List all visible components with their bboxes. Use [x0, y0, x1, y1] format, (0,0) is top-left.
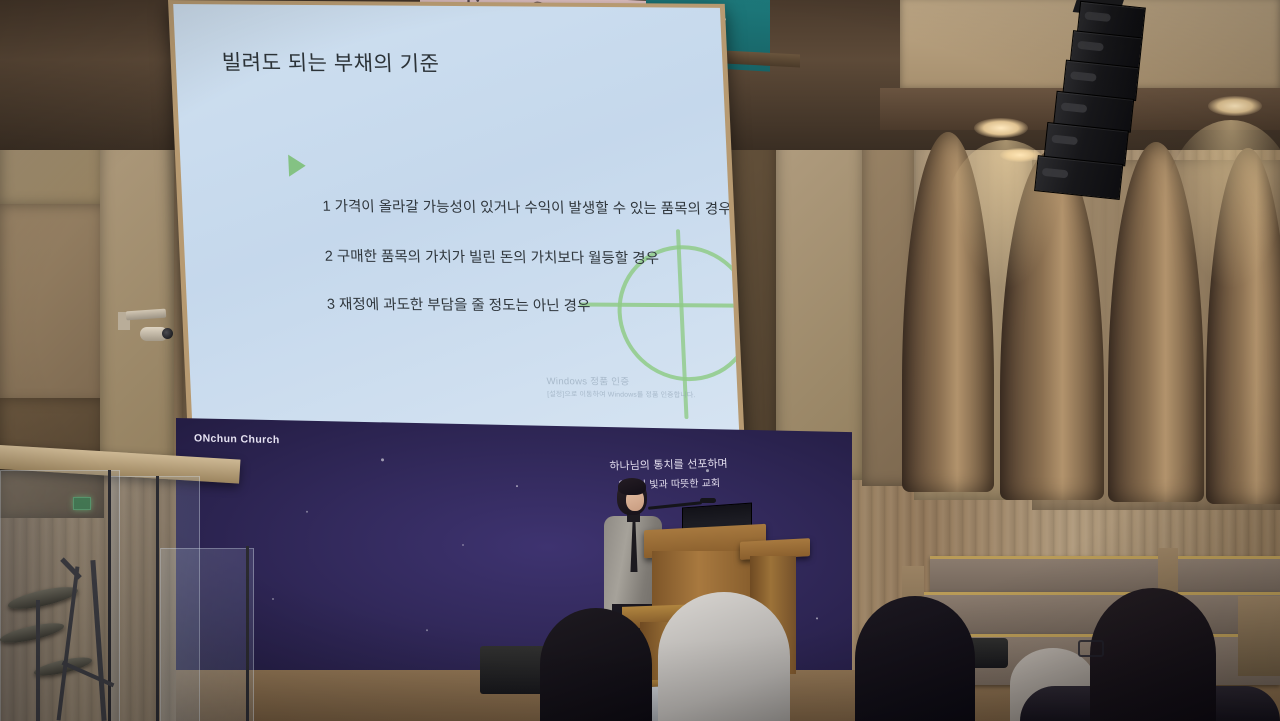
- projection-screen: 빌려도 되는 부채의 기준 1 가격이 올라갈 가능성이 있거나 수익이 발생할…: [168, 0, 745, 455]
- star-10: [272, 598, 274, 600]
- windows-activation-watermark: Windows 정품 인증 [설정]으로 이동하여 Windows를 정품 인증…: [546, 373, 695, 400]
- drum-shield-post-3: [246, 546, 249, 721]
- led-wall-brand-text: ONchun Church: [194, 432, 280, 446]
- led-wall-handwritten-text: 하나님의 통치를 선포하며 열방의 빛과 따뜻한 교회: [563, 454, 774, 497]
- microphone-head: [700, 498, 716, 503]
- audience-head-2: [658, 592, 790, 721]
- audience-head-1: [540, 608, 652, 721]
- presenter-hair: [618, 478, 646, 495]
- green-triangle-icon: [288, 155, 306, 177]
- watermark-line-1: Windows 정품 인증: [546, 373, 695, 388]
- led-hand-line-1: 하나님의 통치를 선포하며: [609, 457, 728, 473]
- eyeglasses-icon: [1078, 640, 1104, 657]
- cymbal-stand-1: [36, 600, 40, 721]
- slide-bullet-2: 2 구매한 품목의 가치가 빌린 돈의 가치보다 월등할 경우: [324, 245, 659, 268]
- slide-title: 빌려도 되는 부채의 기준: [221, 46, 440, 77]
- star-4: [462, 544, 464, 546]
- side-table: [1238, 596, 1280, 676]
- slide-bullet-3: 3 재정에 과도한 부담을 줄 정도는 아닌 경우: [326, 293, 590, 316]
- star-5: [516, 485, 518, 487]
- star-2: [306, 511, 308, 513]
- led-hand-line-2: 열방의 빛과 따뜻한 교회: [564, 474, 775, 497]
- presentation-slide: 빌려도 되는 부채의 기준 1 가격이 올라갈 가능성이 있거나 수익이 발생할…: [173, 4, 740, 444]
- star-11: [426, 629, 428, 631]
- audience-head-3: [855, 596, 975, 721]
- ceiling-downlight-2: [1208, 96, 1262, 116]
- camera-lens-icon: [162, 328, 173, 339]
- ceiling-downlight-1: [974, 118, 1028, 138]
- line-array-speaker: [1036, 0, 1176, 206]
- wall-panel-mid-left: [0, 204, 104, 404]
- drum-shield-panel-3: [160, 548, 254, 721]
- audience-head-5: [1090, 588, 1216, 721]
- slide-bullet-1: 1 가격이 올라갈 가능성이 있거나 수익이 발생할 수 있는 품목의 경우: [322, 195, 732, 219]
- star-9: [816, 617, 818, 619]
- drum-shield-post-2: [156, 476, 159, 721]
- speaker-box-6: [1034, 155, 1123, 200]
- watermark-line-2: [설정]으로 이동하여 Windows를 정품 인증합니다.: [547, 389, 696, 400]
- screenshot-root: eling On 친 군 식 빌려도 되는 부채의 기준 1 가격이 올라갈 가…: [0, 0, 1280, 721]
- star-3: [381, 458, 384, 461]
